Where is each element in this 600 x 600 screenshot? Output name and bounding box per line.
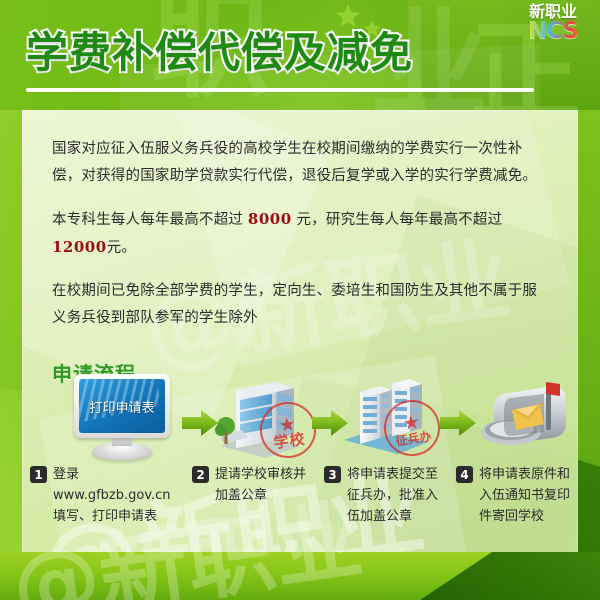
step-badge-1: 1 — [30, 466, 47, 483]
monitor-screen-label: 打印申请表 — [89, 397, 154, 416]
paragraph-policy-summary: 国家对应征入伍服义务兵役的高校学生在校期间缴纳的学费实行一次性补偿，对获得的国家… — [52, 136, 548, 190]
flow-arrow-1-icon — [182, 410, 218, 436]
amount-suffix-text: 元。 — [107, 240, 136, 256]
stamp-star-icon-2: ★ — [402, 414, 421, 430]
flow-step-3: 3 将申请表提交至征兵办，批准入伍加盖公章 — [324, 464, 449, 527]
draft-office-stamp-text: 征兵办 — [395, 428, 433, 449]
step-text-3: 将申请表提交至征兵办，批准入伍加盖公章 — [347, 464, 449, 527]
brand-logo: 新职业 NCS — [514, 3, 592, 45]
application-flow: 打印申请表 — [22, 372, 578, 557]
monitor-frame: 打印申请表 — [74, 374, 170, 438]
flow-step-captions: 1 登录www.gfbzb.gov.cn填写、打印申请表 2 提请学校审核并加盖… — [22, 464, 578, 559]
mailbox-icon — [474, 372, 574, 452]
step-text-1: 登录www.gfbzb.gov.cn填写、打印申请表 — [53, 464, 180, 527]
logo-ncs-text: NCS — [514, 20, 592, 43]
title-underline — [26, 88, 534, 92]
amount-graduate: 12000 — [52, 238, 107, 256]
footer-strip: @新职业 — [0, 552, 600, 600]
flow-step-1: 1 登录www.gfbzb.gov.cn填写、打印申请表 — [30, 464, 180, 527]
paragraph-exclusions: 在校期间已免除全部学费的学生，定向生、委培生和国防生及其他不属于服义务兵役到部队… — [52, 278, 548, 332]
paragraph-amount-limits: 本专科生每人每年最高不超过 8000 元，研究生每人每年最高不超过 12000元… — [52, 206, 548, 262]
step-text-4: 将申请表原件和入伍通知书复印件寄回学校 — [479, 464, 578, 527]
monitor-screen: 打印申请表 — [79, 379, 165, 433]
school-stamp-text: 学校 — [272, 430, 306, 450]
flow-icon-row: 打印申请表 — [22, 372, 578, 460]
panel-inner: 国家对应征入伍服义务兵役的高校学生在校期间缴纳的学费实行一次性补偿，对获得的国家… — [22, 110, 578, 387]
amount-prefix-text: 本专科生每人每年最高不超过 — [52, 212, 248, 228]
monitor-icon: 打印申请表 — [74, 374, 170, 458]
flow-arrow-3-icon — [440, 410, 476, 436]
step-badge-2: 2 — [192, 466, 209, 483]
page-title: 学费补偿代偿及减免 — [26, 19, 413, 80]
step-badge-3: 3 — [324, 466, 341, 483]
step-text-2: 提请学校审核并加盖公章 — [215, 464, 317, 506]
amount-middle-text: 元，研究生每人每年最高不超过 — [292, 212, 503, 228]
infographic-poster: 职 业 正 学费补偿代偿及减免 新职业 NCS @新职业 @新职业 国家对应征入… — [0, 0, 600, 600]
poster-header: 职 业 正 学费补偿代偿及减免 新职业 NCS — [0, 0, 600, 110]
step-badge-4: 4 — [456, 466, 473, 483]
amount-undergrad: 8000 — [248, 210, 292, 228]
flow-step-4: 4 将申请表原件和入伍通知书复印件寄回学校 — [456, 464, 578, 527]
flow-step-2: 2 提请学校审核并加盖公章 — [192, 464, 317, 506]
